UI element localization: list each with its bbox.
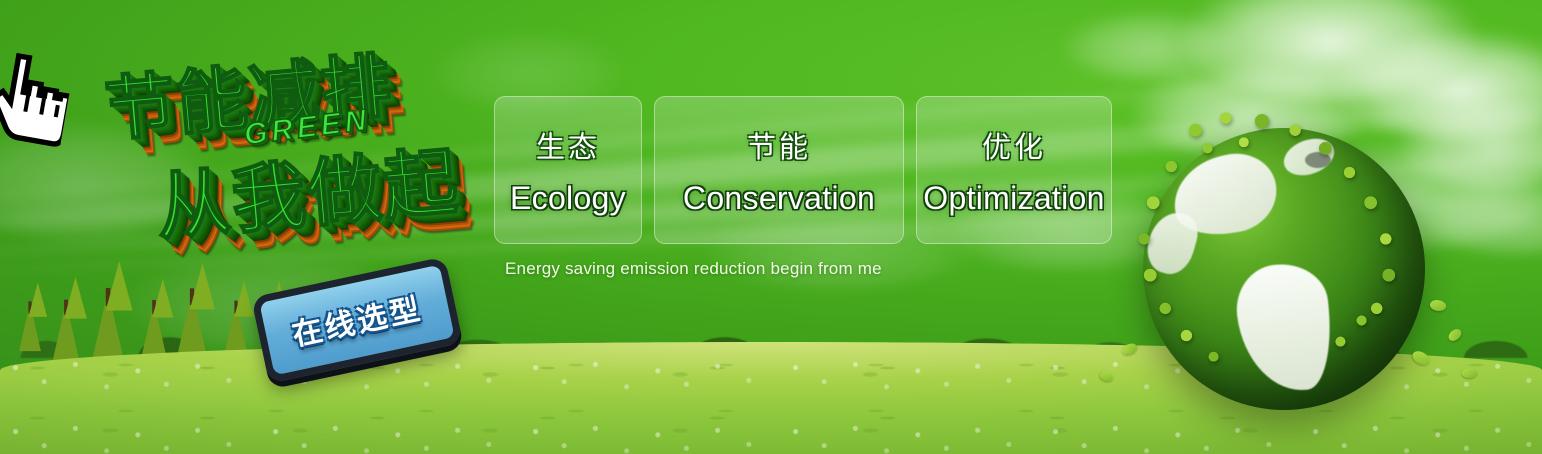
feature-card-list: 生态 Ecology 节能 Conservation 优化 Optimizati…	[494, 96, 1112, 244]
feature-card-cn-label: 优化	[982, 124, 1046, 166]
feature-card-cn-label: 节能	[747, 124, 811, 166]
continent-shadow-patch	[1305, 152, 1331, 168]
online-selection-button-label: 在线选型	[290, 293, 426, 353]
leafy-earth-globe	[1143, 128, 1425, 410]
feature-card-en-label: Conservation	[683, 180, 875, 217]
feature-card-optimization[interactable]: 优化 Optimization	[916, 96, 1112, 244]
feature-card-en-label: Optimization	[923, 180, 1104, 217]
headline-3d: 节能减排 GREEN 从我做起	[87, 21, 506, 285]
feature-card-cn-label: 生态	[536, 124, 600, 166]
tagline-text: Energy saving emission reduction begin f…	[505, 259, 882, 279]
cloud	[1330, 30, 1542, 140]
green-energy-banner: 节能减排 GREEN 从我做起 在线选型 生态 Ecology 节能 Conse…	[0, 0, 1542, 454]
feature-card-ecology[interactable]: 生态 Ecology	[494, 96, 642, 244]
feature-card-en-label: Ecology	[510, 180, 626, 217]
cloud	[1060, 10, 1240, 80]
continent-south-america	[1232, 259, 1339, 397]
feature-card-conservation[interactable]: 节能 Conservation	[654, 96, 904, 244]
cloud	[1180, 0, 1480, 100]
cloud	[1420, 175, 1542, 255]
cloud	[1395, 100, 1542, 190]
